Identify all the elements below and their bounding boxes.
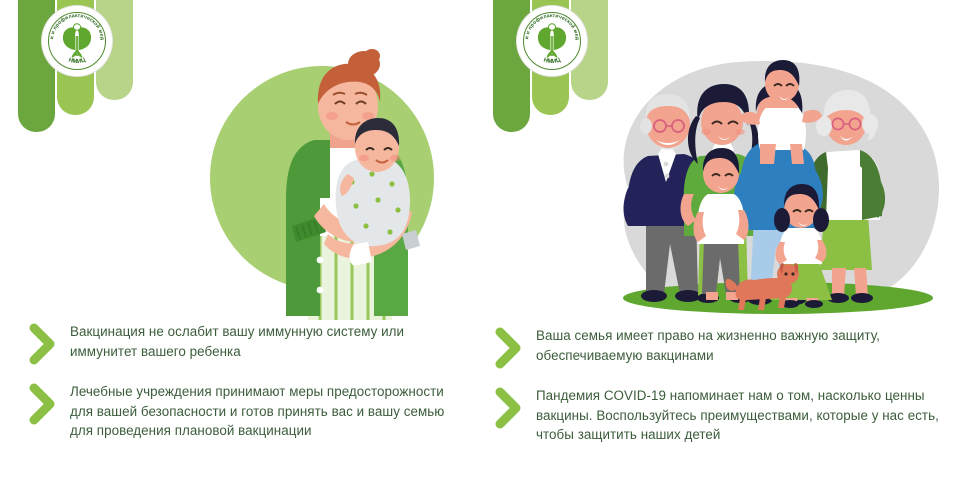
bullet-text: Ваша семья имеет право на жизненно важну… [536, 326, 956, 365]
list-item: Лечебные учреждения принимают меры предо… [0, 382, 480, 441]
bullet-text: Вакцинация не ослабит вашу иммунную сист… [70, 322, 470, 361]
list-item: Вакцинация не ослабит вашу иммунную сист… [0, 322, 480, 366]
seal-artwork: терапии и профилактической медицины НМИЦ [42, 6, 112, 76]
seal-abbr: НМИЦ [543, 57, 562, 65]
chevron-right-icon [28, 322, 58, 366]
list-item: Ваша семья имеет право на жизненно важну… [480, 326, 960, 370]
svg-text:НМИЦ: НМИЦ [543, 57, 562, 65]
chevron-right-icon [494, 386, 524, 430]
bullet-list-left: Вакцинация не ослабит вашу иммунную сист… [0, 322, 480, 457]
multigenerational-family-illustration [588, 48, 958, 320]
bullet-text: Пандемия COVID-19 напоминает нам о том, … [536, 386, 956, 445]
seal-emblem-icon [63, 24, 91, 58]
seal-artwork: терапии и профилактической медицины НМИЦ [517, 6, 587, 76]
chevron-right-icon [28, 382, 58, 426]
brand-logo-left: терапии и профилактической медицины НМИЦ [18, 0, 138, 140]
vaccination-poster: терапии и профилактической медицины НМИЦ [0, 0, 960, 497]
nmic-seal-logo: терапии и профилактической медицины НМИЦ [42, 6, 112, 76]
seal-abbr: НМИЦ [68, 57, 87, 65]
panel-left: терапии и профилактической медицины НМИЦ [0, 0, 480, 497]
chevron-right-icon [494, 326, 524, 370]
svg-text:НМИЦ: НМИЦ [68, 57, 87, 65]
panel-right: терапии и профилактической медицины НМИЦ [480, 0, 960, 497]
mother-holding-baby-illustration [196, 48, 468, 320]
nmic-seal-logo: терапии и профилактической медицины НМИЦ [517, 6, 587, 76]
bullet-text: Лечебные учреждения принимают меры предо… [70, 382, 470, 441]
bullet-list-right: Ваша семья имеет право на жизненно важну… [480, 326, 960, 461]
seal-emblem-icon [538, 24, 566, 58]
list-item: Пандемия COVID-19 напоминает нам о том, … [480, 386, 960, 445]
